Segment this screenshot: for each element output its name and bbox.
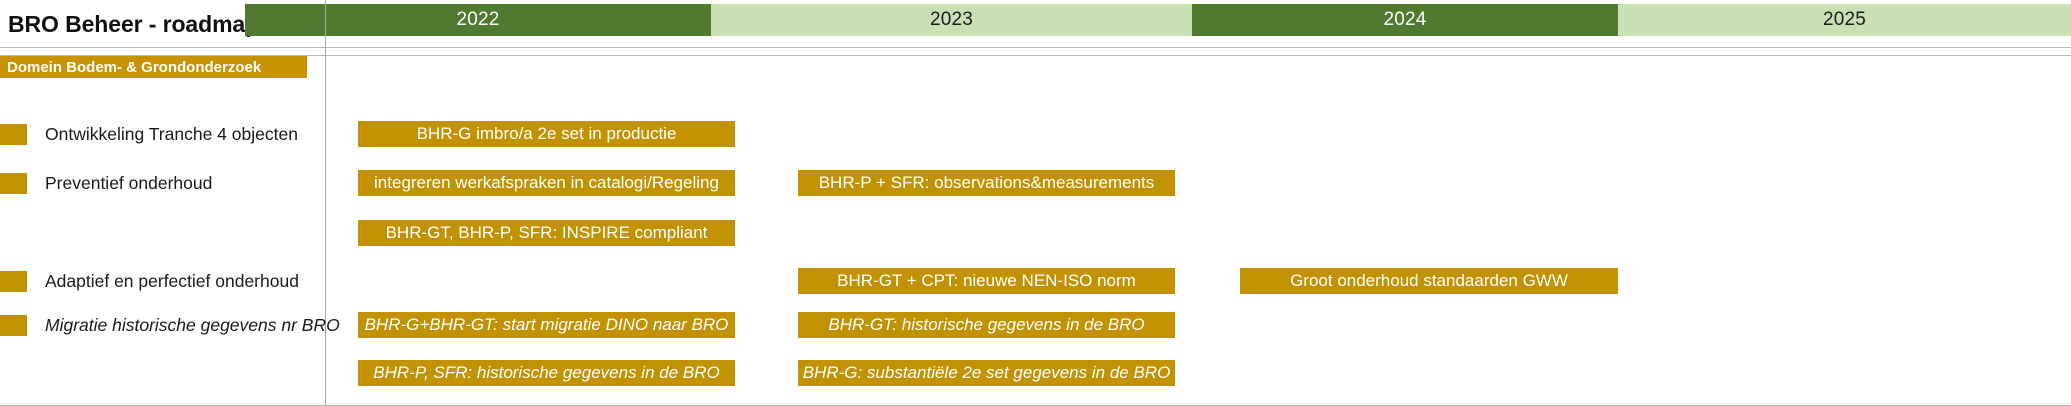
timeline-year-2023[interactable]: 2023	[711, 4, 1192, 36]
task-bar[interactable]: BHR-GT, BHR-P, SFR: INSPIRE compliant	[358, 220, 735, 246]
task-bar[interactable]: Groot onderhoud standaarden GWW	[1240, 268, 1618, 294]
grid-hline-0	[0, 47, 2071, 48]
timeline-year-2025[interactable]: 2025	[1618, 4, 2071, 36]
legend-item-label: Adaptief en perfectief onderhoud	[45, 271, 299, 292]
task-bar[interactable]: BHR-P, SFR: historische gegevens in de B…	[358, 360, 735, 386]
legend-item-label: Preventief onderhoud	[45, 173, 212, 194]
task-bar[interactable]: BHR-G: substantiële 2e set gegevens in d…	[798, 360, 1175, 386]
task-bar[interactable]: BHR-P + SFR: observations&measurements	[798, 170, 1175, 196]
task-bar[interactable]: BHR-G+BHR-GT: start migratie DINO naar B…	[358, 312, 735, 338]
legend-item: Adaptief en perfectief onderhoud	[0, 268, 299, 294]
task-bar[interactable]: BHR-G imbro/a 2e set in productie	[358, 121, 735, 147]
legend-item: Migratie historische gegevens nr BRO	[0, 312, 340, 338]
legend-swatch-icon	[0, 173, 27, 194]
timeline-year-2022[interactable]: 2022	[245, 4, 711, 36]
task-bar[interactable]: BHR-GT + CPT: nieuwe NEN-ISO norm	[798, 268, 1175, 294]
grid-vline-1	[325, 47, 326, 406]
grid-hline-1	[0, 55, 2071, 56]
task-bar[interactable]: integreren werkafspraken in catalogi/Reg…	[358, 170, 735, 196]
legend-swatch-icon	[0, 124, 27, 145]
legend-item: Ontwikkeling Tranche 4 objecten	[0, 121, 298, 147]
task-bar[interactable]: BHR-GT: historische gegevens in de BRO	[798, 312, 1175, 338]
section-header-domein-bodem-grondonderzoek: Domein Bodem- & Grondonderzoek	[0, 56, 307, 78]
legend-swatch-icon	[0, 271, 27, 292]
legend-item-label: Ontwikkeling Tranche 4 objecten	[45, 124, 298, 145]
legend-item: Preventief onderhoud	[0, 170, 212, 196]
legend-swatch-icon	[0, 315, 27, 336]
legend-item-label: Migratie historische gegevens nr BRO	[45, 315, 340, 336]
timeline-year-2024[interactable]: 2024	[1192, 4, 1618, 36]
roadmap-chart: BRO Beheer - roadmap 2022202320242025 Do…	[0, 0, 2071, 406]
